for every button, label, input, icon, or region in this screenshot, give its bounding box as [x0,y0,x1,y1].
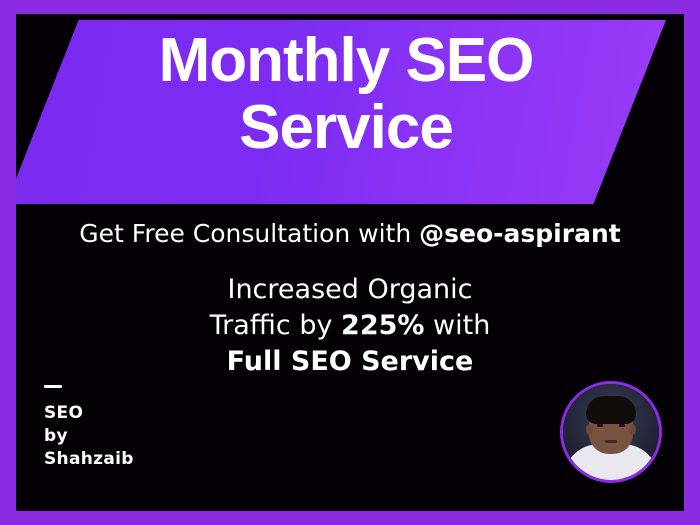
claim-line-2-prefix: Traffic by [210,310,341,341]
claim-line-3: Full SEO Service [16,344,684,380]
brand-line-2: by [44,425,134,448]
avatar-ear-left [586,424,593,435]
claim-block: Increased Organic Traffic by 225% with F… [16,272,684,381]
avatar-eye-left [597,424,603,427]
subtitle-prefix: Get Free Consultation with [79,219,419,248]
avatar [560,381,662,483]
avatar-photo [563,384,659,480]
poster-inner: Monthly SEO Service Get Free Consultatio… [16,14,684,511]
claim-line-2: Traffic by 225% with [16,308,684,344]
brand-line-1: SEO [44,402,134,425]
subtitle: Get Free Consultation with @seo-aspirant [16,219,684,248]
dash-icon [44,385,62,388]
avatar-hair [586,396,636,424]
title-line-2: Service [16,95,676,162]
brand-block: SEO by Shahzaib [44,385,134,471]
seller-handle: @seo-aspirant [419,219,621,248]
avatar-eye-right [619,424,625,427]
claim-metric: 225% [341,310,424,341]
claim-line-2-suffix: with [424,310,490,341]
avatar-mouth [605,440,617,443]
brand-line-3: Shahzaib [44,448,134,471]
avatar-ear-right [629,424,636,435]
title-line-1: Monthly SEO [159,26,534,95]
poster-title: Monthly SEO Service [16,28,676,162]
poster-canvas: Monthly SEO Service Get Free Consultatio… [0,0,700,525]
claim-line-1: Increased Organic [16,272,684,308]
